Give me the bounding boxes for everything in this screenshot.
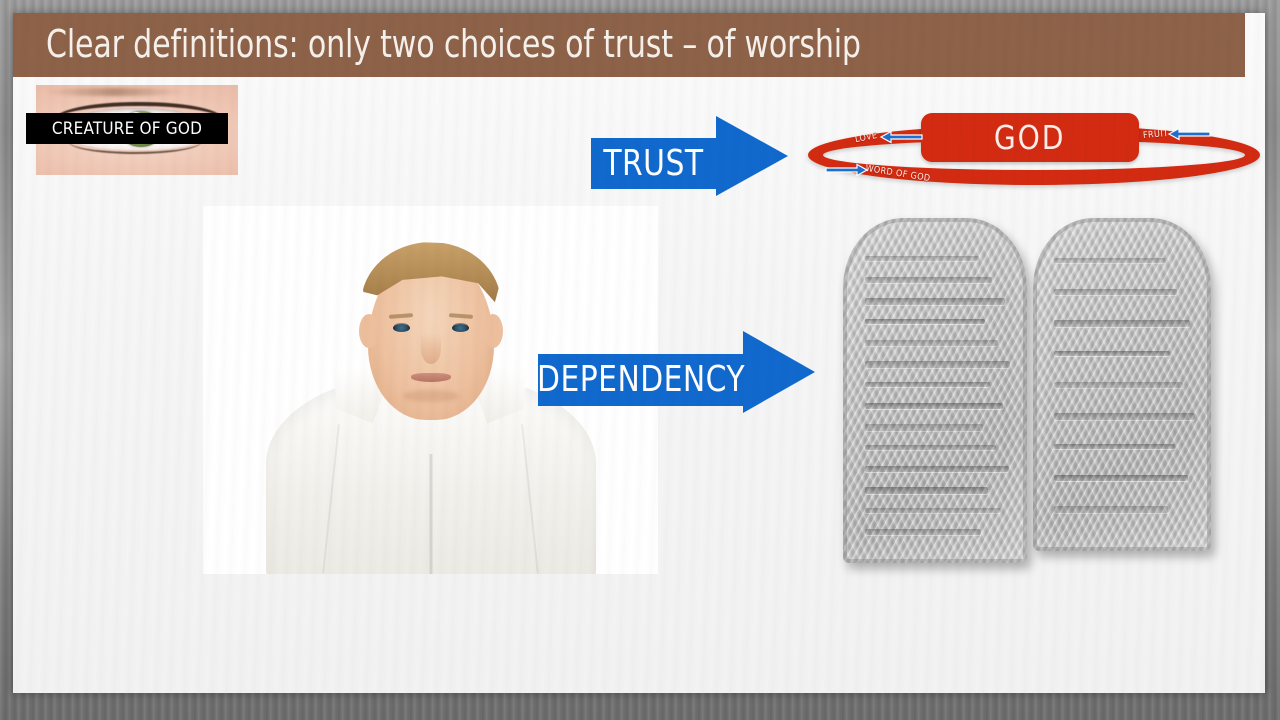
arrow-right-icon-word (825, 163, 869, 177)
title-bar: Clear definitions: only two choices of t… (13, 13, 1245, 77)
trust-arrow-label: TRUST (603, 143, 703, 184)
nose (421, 334, 441, 364)
dependency-arrow-shaft: DEPENDENCY (538, 354, 743, 406)
chin-shadow (403, 390, 459, 402)
ten-commandments-stone-tablets (837, 218, 1211, 573)
tablet-engraved-line (865, 487, 988, 494)
shirt-placket (429, 454, 432, 574)
eye-left (393, 324, 410, 332)
eye-right (452, 324, 469, 332)
creature-of-god-card (36, 85, 238, 203)
tablet-engraved-line (1054, 351, 1170, 356)
god-cycle-diagram: GOD LOVE WORD OF GOD FRUIT (795, 105, 1265, 200)
stone-tablet-left (843, 218, 1027, 563)
stone-tablet-right (1033, 218, 1211, 551)
creature-of-god-caption: CREATURE OF GOD (26, 113, 228, 144)
slide-canvas: Clear definitions: only two choices of t… (13, 13, 1265, 693)
god-center-box: GOD (921, 113, 1139, 162)
dependency-arrow: DEPENDENCY (538, 331, 815, 413)
tablet-engraved-line (1054, 413, 1195, 420)
tablet-engraved-line (865, 445, 996, 450)
tablet-engraved-line (865, 277, 992, 283)
slide-outer-frame: Clear definitions: only two choices of t… (0, 0, 1280, 720)
god-label: GOD (994, 118, 1065, 157)
dependency-arrow-label: DEPENDENCY (537, 359, 745, 400)
tablet-engraved-line (1054, 382, 1182, 388)
trust-arrow-head (716, 116, 788, 196)
arrow-left-icon-love (879, 130, 923, 144)
tablet-engraved-line (1054, 506, 1168, 513)
ear-right (483, 314, 503, 348)
tablet-engraved-line (865, 319, 985, 324)
tablet-engraved-line (865, 529, 981, 535)
tablet-engraved-line (1054, 289, 1177, 295)
tablet-engraved-line (1054, 475, 1188, 481)
tablet-engraved-line (865, 466, 1009, 472)
tablet-engraved-line (865, 403, 1003, 409)
page-title: Clear definitions: only two choices of t… (46, 22, 861, 66)
tablet-engraved-line (865, 256, 979, 261)
eyebrow (44, 88, 185, 96)
tablet-engraved-line (1054, 258, 1164, 263)
mouth (411, 373, 451, 382)
trust-arrow: TRUST (591, 116, 788, 196)
tablet-engraved-line (865, 361, 1010, 368)
tablet-engraved-line (865, 382, 990, 387)
tablet-engraved-line (1054, 444, 1175, 449)
tablet-engraved-line (865, 340, 997, 346)
dependency-arrow-head (743, 331, 815, 413)
trust-arrow-shaft: TRUST (591, 138, 716, 189)
ear-left (359, 314, 379, 348)
tablet-engraved-line (1054, 320, 1189, 327)
tablet-engraved-line (865, 424, 983, 431)
arrow-left-icon-fruit (1167, 127, 1211, 141)
tablet-engraved-line (865, 508, 1001, 513)
tablet-engraved-line (865, 298, 1005, 305)
